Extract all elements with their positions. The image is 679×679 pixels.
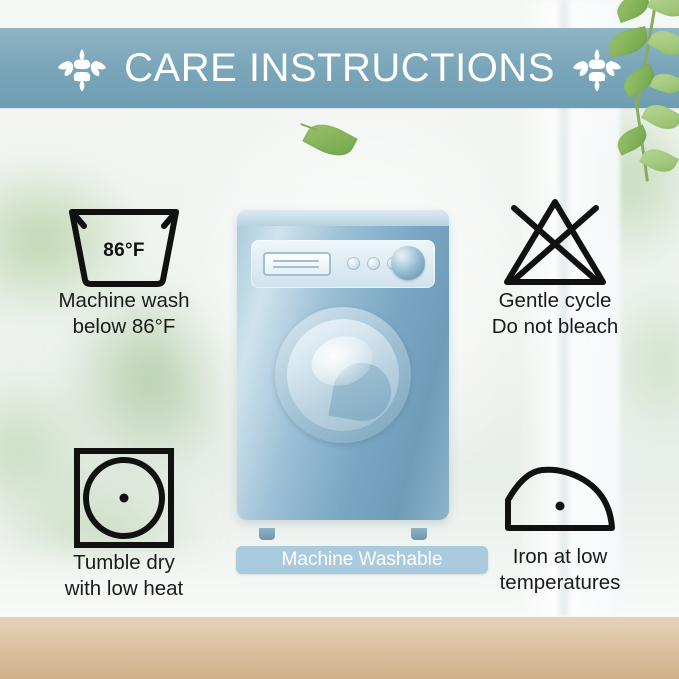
machine-display [263, 252, 331, 276]
washing-machine-illustration [229, 210, 457, 530]
instruction-label: Tumble dry with low heat [24, 550, 224, 602]
machine-dial-knob [391, 246, 425, 280]
triangle-crossed-bleach-icon [455, 196, 655, 288]
machine-foot [259, 528, 275, 540]
care-instructions-graphic: CARE INSTRUCTIONS [0, 0, 679, 679]
instruction-iron-low: Iron at low temperatures [455, 452, 665, 596]
machine-indicator-dot [347, 257, 360, 270]
table-surface [0, 617, 679, 679]
machine-washable-badge: Machine Washable [236, 546, 488, 574]
wash-tub-icon: 86°F [24, 196, 224, 288]
machine-foot [411, 528, 427, 540]
header-banner: CARE INSTRUCTIONS [0, 28, 679, 108]
machine-washable-label: Machine Washable [282, 549, 443, 571]
instruction-label: Gentle cycle Do not bleach [455, 288, 655, 340]
fleur-de-lis-icon [569, 45, 625, 91]
wash-tub-temperature-label: 86°F [24, 240, 224, 262]
machine-top-panel [237, 210, 449, 226]
machine-door-glass [287, 319, 399, 431]
instruction-tumble-dry: Tumble dry with low heat [24, 446, 224, 602]
machine-indicator-dot [367, 257, 380, 270]
fleur-de-lis-icon [54, 45, 110, 91]
iron-low-icon [455, 452, 665, 544]
machine-door [275, 307, 411, 443]
tumble-dry-low-icon [24, 446, 224, 550]
instruction-machine-wash: 86°F Machine wash below 86°F [24, 196, 224, 340]
page-title: CARE INSTRUCTIONS [124, 46, 555, 91]
machine-control-panel [251, 240, 435, 288]
instruction-gentle-cycle-no-bleach: Gentle cycle Do not bleach [455, 196, 655, 340]
instruction-label: Machine wash below 86°F [24, 288, 224, 340]
